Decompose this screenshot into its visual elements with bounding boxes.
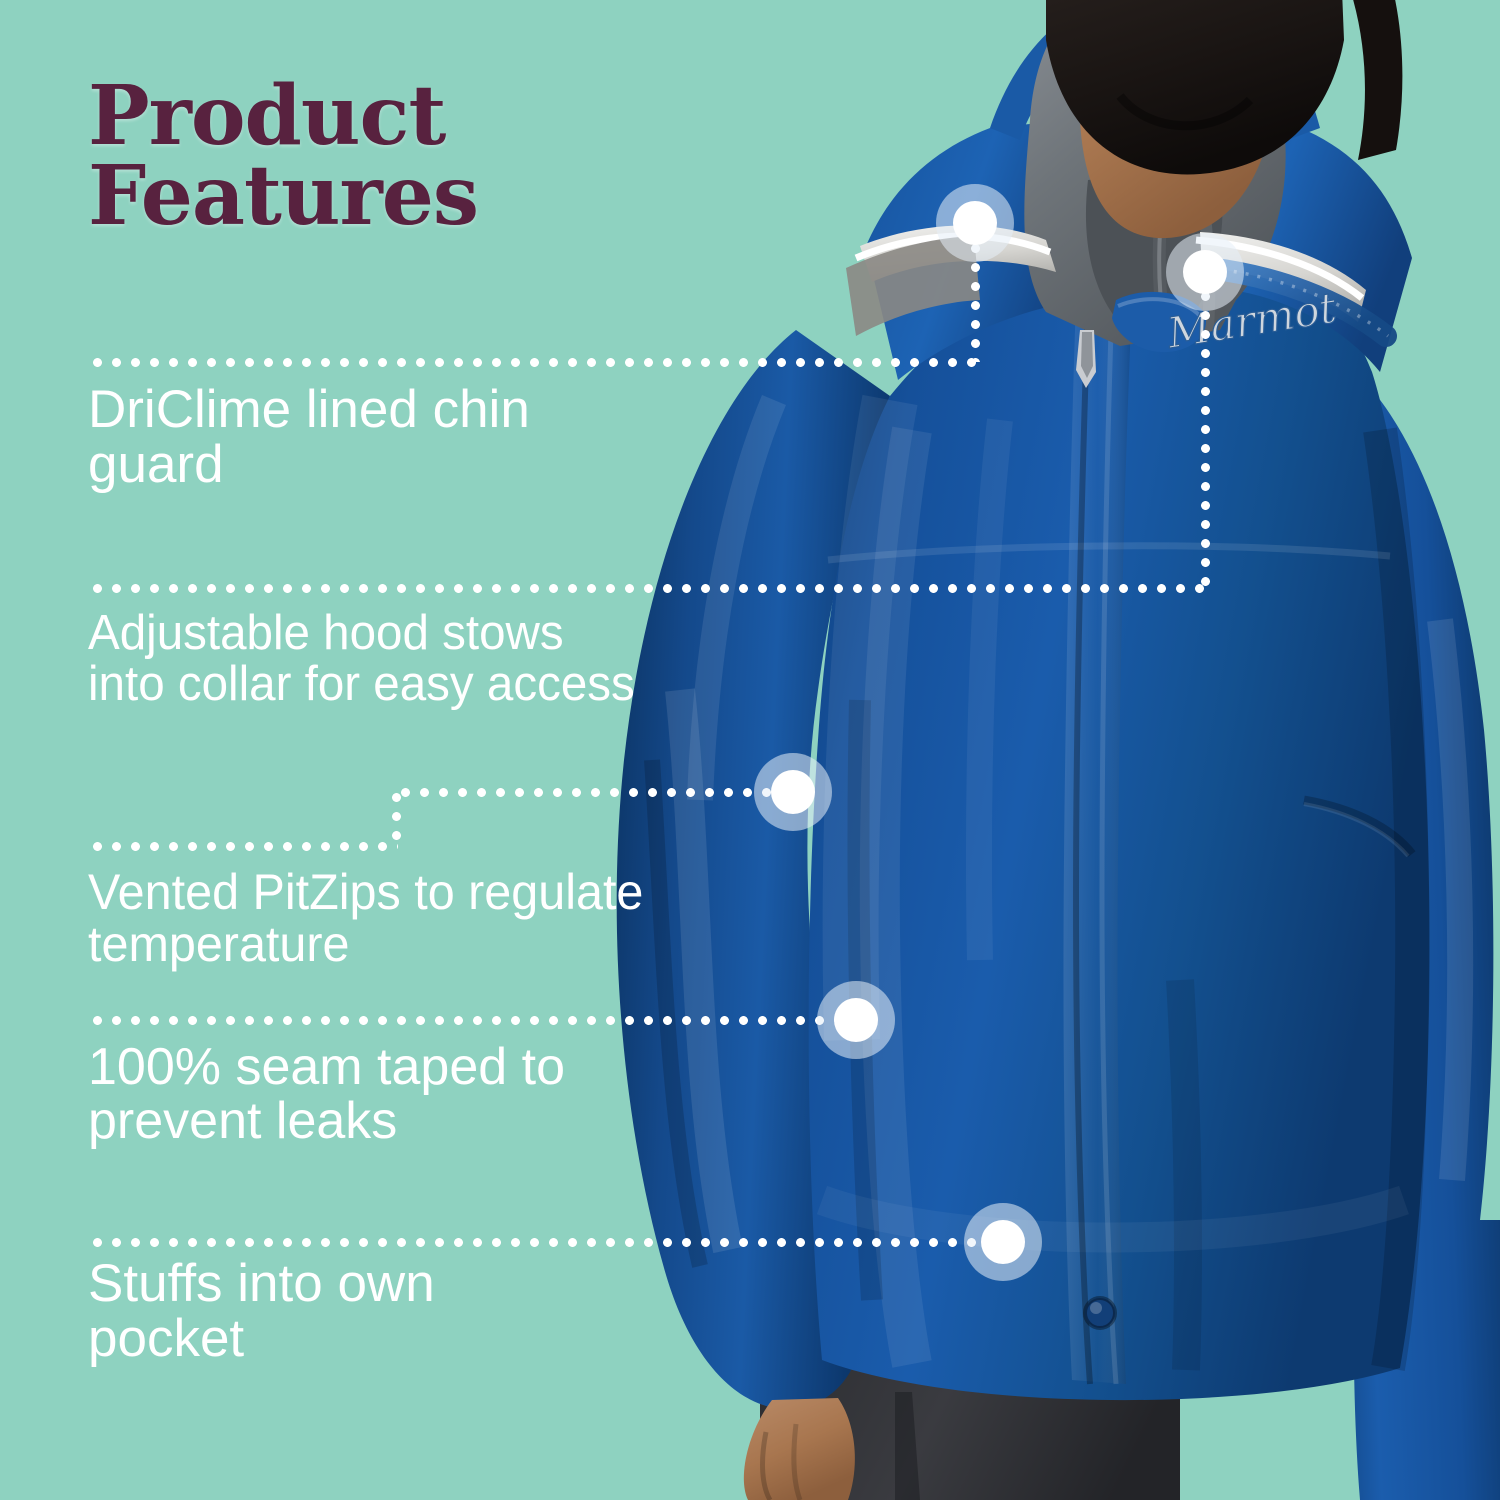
callout-marker-seam-taped[interactable] [817, 981, 895, 1059]
feature-label-adjustable-hood: Adjustable hood stows into collar for ea… [88, 608, 825, 710]
connector-line-pitzips-upper [396, 788, 796, 797]
product-features-infographic: Marmot Product Features DriClime lined c… [0, 0, 1500, 1500]
feature-label-stuff-pocket: Stuffs into own pocket [88, 1256, 708, 1366]
callout-marker-stuff-pocket[interactable] [964, 1203, 1042, 1281]
connector-line-adjustable-hood-vertical [1201, 268, 1210, 588]
connector-line-pitzips-vertical [392, 788, 401, 848]
feature-label-seam-taped: 100% seam taped to prevent leaks [88, 1040, 788, 1148]
feature-label-chin-guard: DriClime lined chin guard [88, 382, 728, 492]
callout-marker-adjustable-hood[interactable] [1166, 233, 1244, 311]
connector-line-seam-taped [88, 1016, 860, 1025]
page-title: Product Features [88, 76, 608, 237]
callout-marker-chin-guard[interactable] [936, 184, 1014, 262]
callout-marker-pitzips[interactable] [754, 753, 832, 831]
page-title-line-2: Features [88, 156, 608, 236]
connector-line-stuff-pocket [88, 1238, 1006, 1247]
connector-line-adjustable-hood-horizontal [88, 584, 1208, 593]
connector-line-pitzips-lower [88, 842, 398, 851]
page-title-line-1: Product [88, 76, 608, 156]
feature-label-pitzips: Vented PitZips to regulate temperature [88, 866, 825, 970]
connector-line-chin-guard-horizontal [88, 358, 980, 367]
